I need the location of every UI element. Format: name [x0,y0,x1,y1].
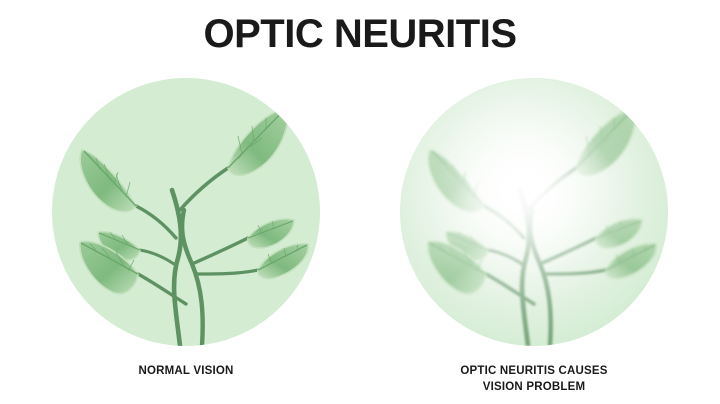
caption-optic-neuritis: OPTIC NEURITIS CAUSES VISION PROBLEM [394,364,674,395]
plant-illustration-normal [52,78,320,346]
normal-vision-circle [52,78,320,346]
caption-normal-vision: NORMAL VISION [46,364,326,380]
panel-normal-vision: NORMAL VISION [46,78,326,380]
page-title: OPTIC NEURITIS [0,14,720,54]
plant-illustration-affected [400,78,668,346]
panel-optic-neuritis-vision: OPTIC NEURITIS CAUSES VISION PROBLEM [394,78,674,395]
caption-line: OPTIC NEURITIS CAUSES [394,364,674,380]
caption-line: NORMAL VISION [46,364,326,380]
caption-line: VISION PROBLEM [394,380,674,396]
optic-neuritis-vision-circle [400,78,668,346]
